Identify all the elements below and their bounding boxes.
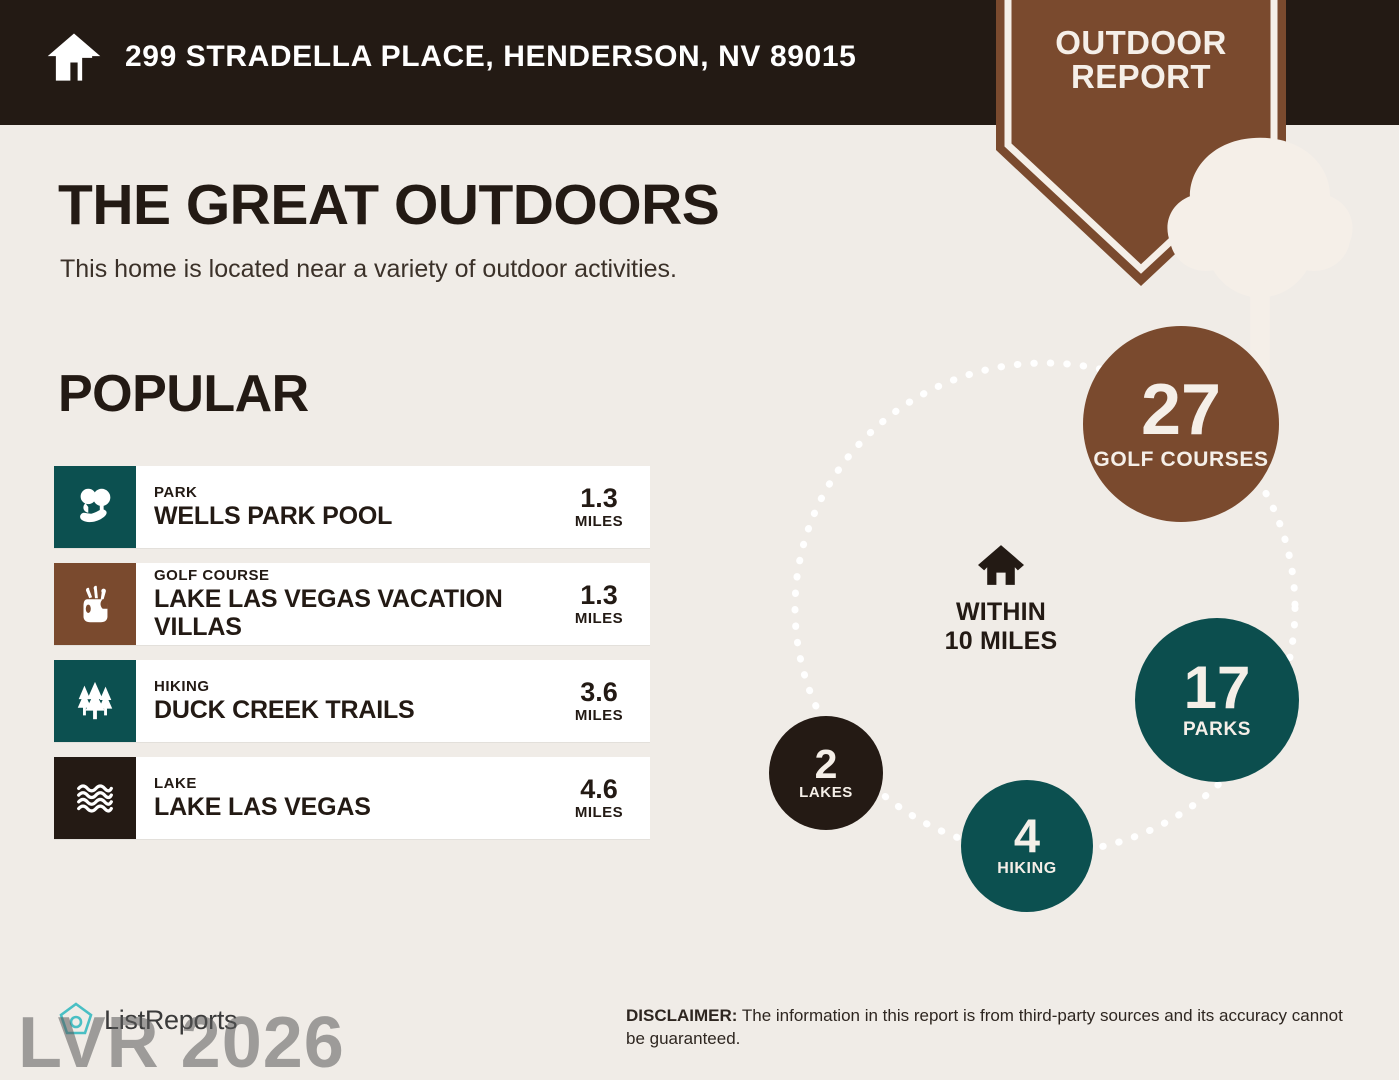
bubble-value: 4 — [1014, 814, 1040, 858]
bubble-label: HIKING — [997, 861, 1057, 878]
listreports-logo-text: ListReports — [104, 1005, 237, 1036]
page-title: THE GREAT OUTDOORS — [58, 172, 719, 238]
popular-list: PARK WELLS PARK POOL 1.3 MILES — [54, 466, 650, 854]
list-item-texts: HIKING DUCK CREEK TRAILS — [154, 678, 415, 725]
list-item-distance: 1.3 MILES — [562, 484, 636, 529]
golf-bag-icon — [54, 563, 136, 645]
distance-unit: MILES — [562, 513, 636, 530]
pine-trees-icon — [54, 660, 136, 742]
bubble-label: LAKES — [799, 785, 853, 801]
list-item[interactable]: PARK WELLS PARK POOL 1.3 MILES — [54, 466, 650, 548]
header-content: 299 STRADELLA PLACE, HENDERSON, NV 89015 — [45, 28, 856, 86]
list-item-name: DUCK CREEK TRAILS — [154, 696, 415, 724]
bubble-label: GOLF COURSES — [1093, 449, 1268, 471]
header-address: 299 STRADELLA PLACE, HENDERSON, NV 89015 — [125, 40, 856, 74]
bubble-lakes: 2 LAKES — [769, 716, 883, 830]
list-item-category: LAKE — [154, 775, 371, 794]
distance-value: 3.6 — [562, 678, 636, 706]
list-item-distance: 4.6 MILES — [562, 775, 636, 820]
distance-unit: MILES — [562, 707, 636, 724]
bubble-hiking: 4 HIKING — [961, 780, 1093, 912]
list-item-distance: 1.3 MILES — [562, 581, 636, 626]
disclaimer-label: DISCLAIMER: — [626, 1006, 737, 1025]
list-item-category: PARK — [154, 484, 392, 503]
list-item-texts: LAKE LAKE LAS VEGAS — [154, 775, 371, 822]
list-item-body: HIKING DUCK CREEK TRAILS 3.6 MILES — [136, 660, 650, 742]
distance-unit: MILES — [562, 610, 636, 627]
list-item-body: PARK WELLS PARK POOL 1.3 MILES — [136, 466, 650, 548]
tree-icon — [1115, 130, 1167, 206]
list-item-name: WELLS PARK POOL — [154, 502, 392, 530]
list-item-body: GOLF COURSE LAKE LAS VEGAS VACATION VILL… — [136, 563, 650, 645]
bubble-value: 2 — [815, 745, 838, 784]
chart-center-label: WITHIN 10 MILES — [936, 542, 1066, 656]
badge-line-2: REPORT — [996, 60, 1286, 94]
water-waves-icon — [54, 757, 136, 839]
center-line-1: WITHIN — [936, 598, 1066, 627]
list-item[interactable]: GOLF COURSE LAKE LAS VEGAS VACATION VILL… — [54, 563, 650, 645]
within-10-miles-bubble-chart: 27 GOLF COURSES 17 PARKS 4 HIKING 2 LAKE… — [740, 318, 1360, 918]
list-item-body: LAKE LAKE LAS VEGAS 4.6 MILES — [136, 757, 650, 839]
list-item-category: GOLF COURSE — [154, 567, 562, 586]
badge-title: OUTDOOR REPORT — [996, 26, 1286, 95]
distance-unit: MILES — [562, 804, 636, 821]
home-icon — [45, 28, 103, 86]
list-item-texts: GOLF COURSE LAKE LAS VEGAS VACATION VILL… — [154, 567, 562, 642]
bubble-parks: 17 PARKS — [1135, 618, 1299, 782]
park-trees-icon — [54, 466, 136, 548]
distance-value: 4.6 — [562, 775, 636, 803]
list-item-distance: 3.6 MILES — [562, 678, 636, 723]
badge-line-1: OUTDOOR — [996, 26, 1286, 60]
list-item-texts: PARK WELLS PARK POOL — [154, 484, 392, 531]
bubble-label: PARKS — [1183, 720, 1251, 740]
home-icon — [936, 542, 1066, 588]
listreports-logo[interactable]: ListReports — [56, 1000, 237, 1040]
outdoor-report-page: 299 STRADELLA PLACE, HENDERSON, NV 89015… — [0, 0, 1399, 1080]
page-subtitle: This home is located near a variety of o… — [60, 255, 677, 284]
listreports-pentagon-icon — [56, 1000, 96, 1040]
bubble-value: 17 — [1184, 660, 1251, 716]
bubble-value: 27 — [1141, 377, 1221, 445]
list-item[interactable]: HIKING DUCK CREEK TRAILS 3.6 MILES — [54, 660, 650, 742]
bubble-golf-courses: 27 GOLF COURSES — [1083, 326, 1279, 522]
distance-value: 1.3 — [562, 581, 636, 609]
disclaimer: DISCLAIMER: The information in this repo… — [626, 1004, 1344, 1051]
outdoor-report-badge: OUTDOOR REPORT — [996, 0, 1286, 286]
list-item-name: LAKE LAS VEGAS VACATION VILLAS — [154, 585, 562, 641]
popular-section-title: POPULAR — [58, 364, 309, 424]
list-item-name: LAKE LAS VEGAS — [154, 793, 371, 821]
list-item-category: HIKING — [154, 678, 415, 697]
distance-value: 1.3 — [562, 484, 636, 512]
list-item[interactable]: LAKE LAKE LAS VEGAS 4.6 MILES — [54, 757, 650, 839]
center-line-2: 10 MILES — [936, 627, 1066, 656]
